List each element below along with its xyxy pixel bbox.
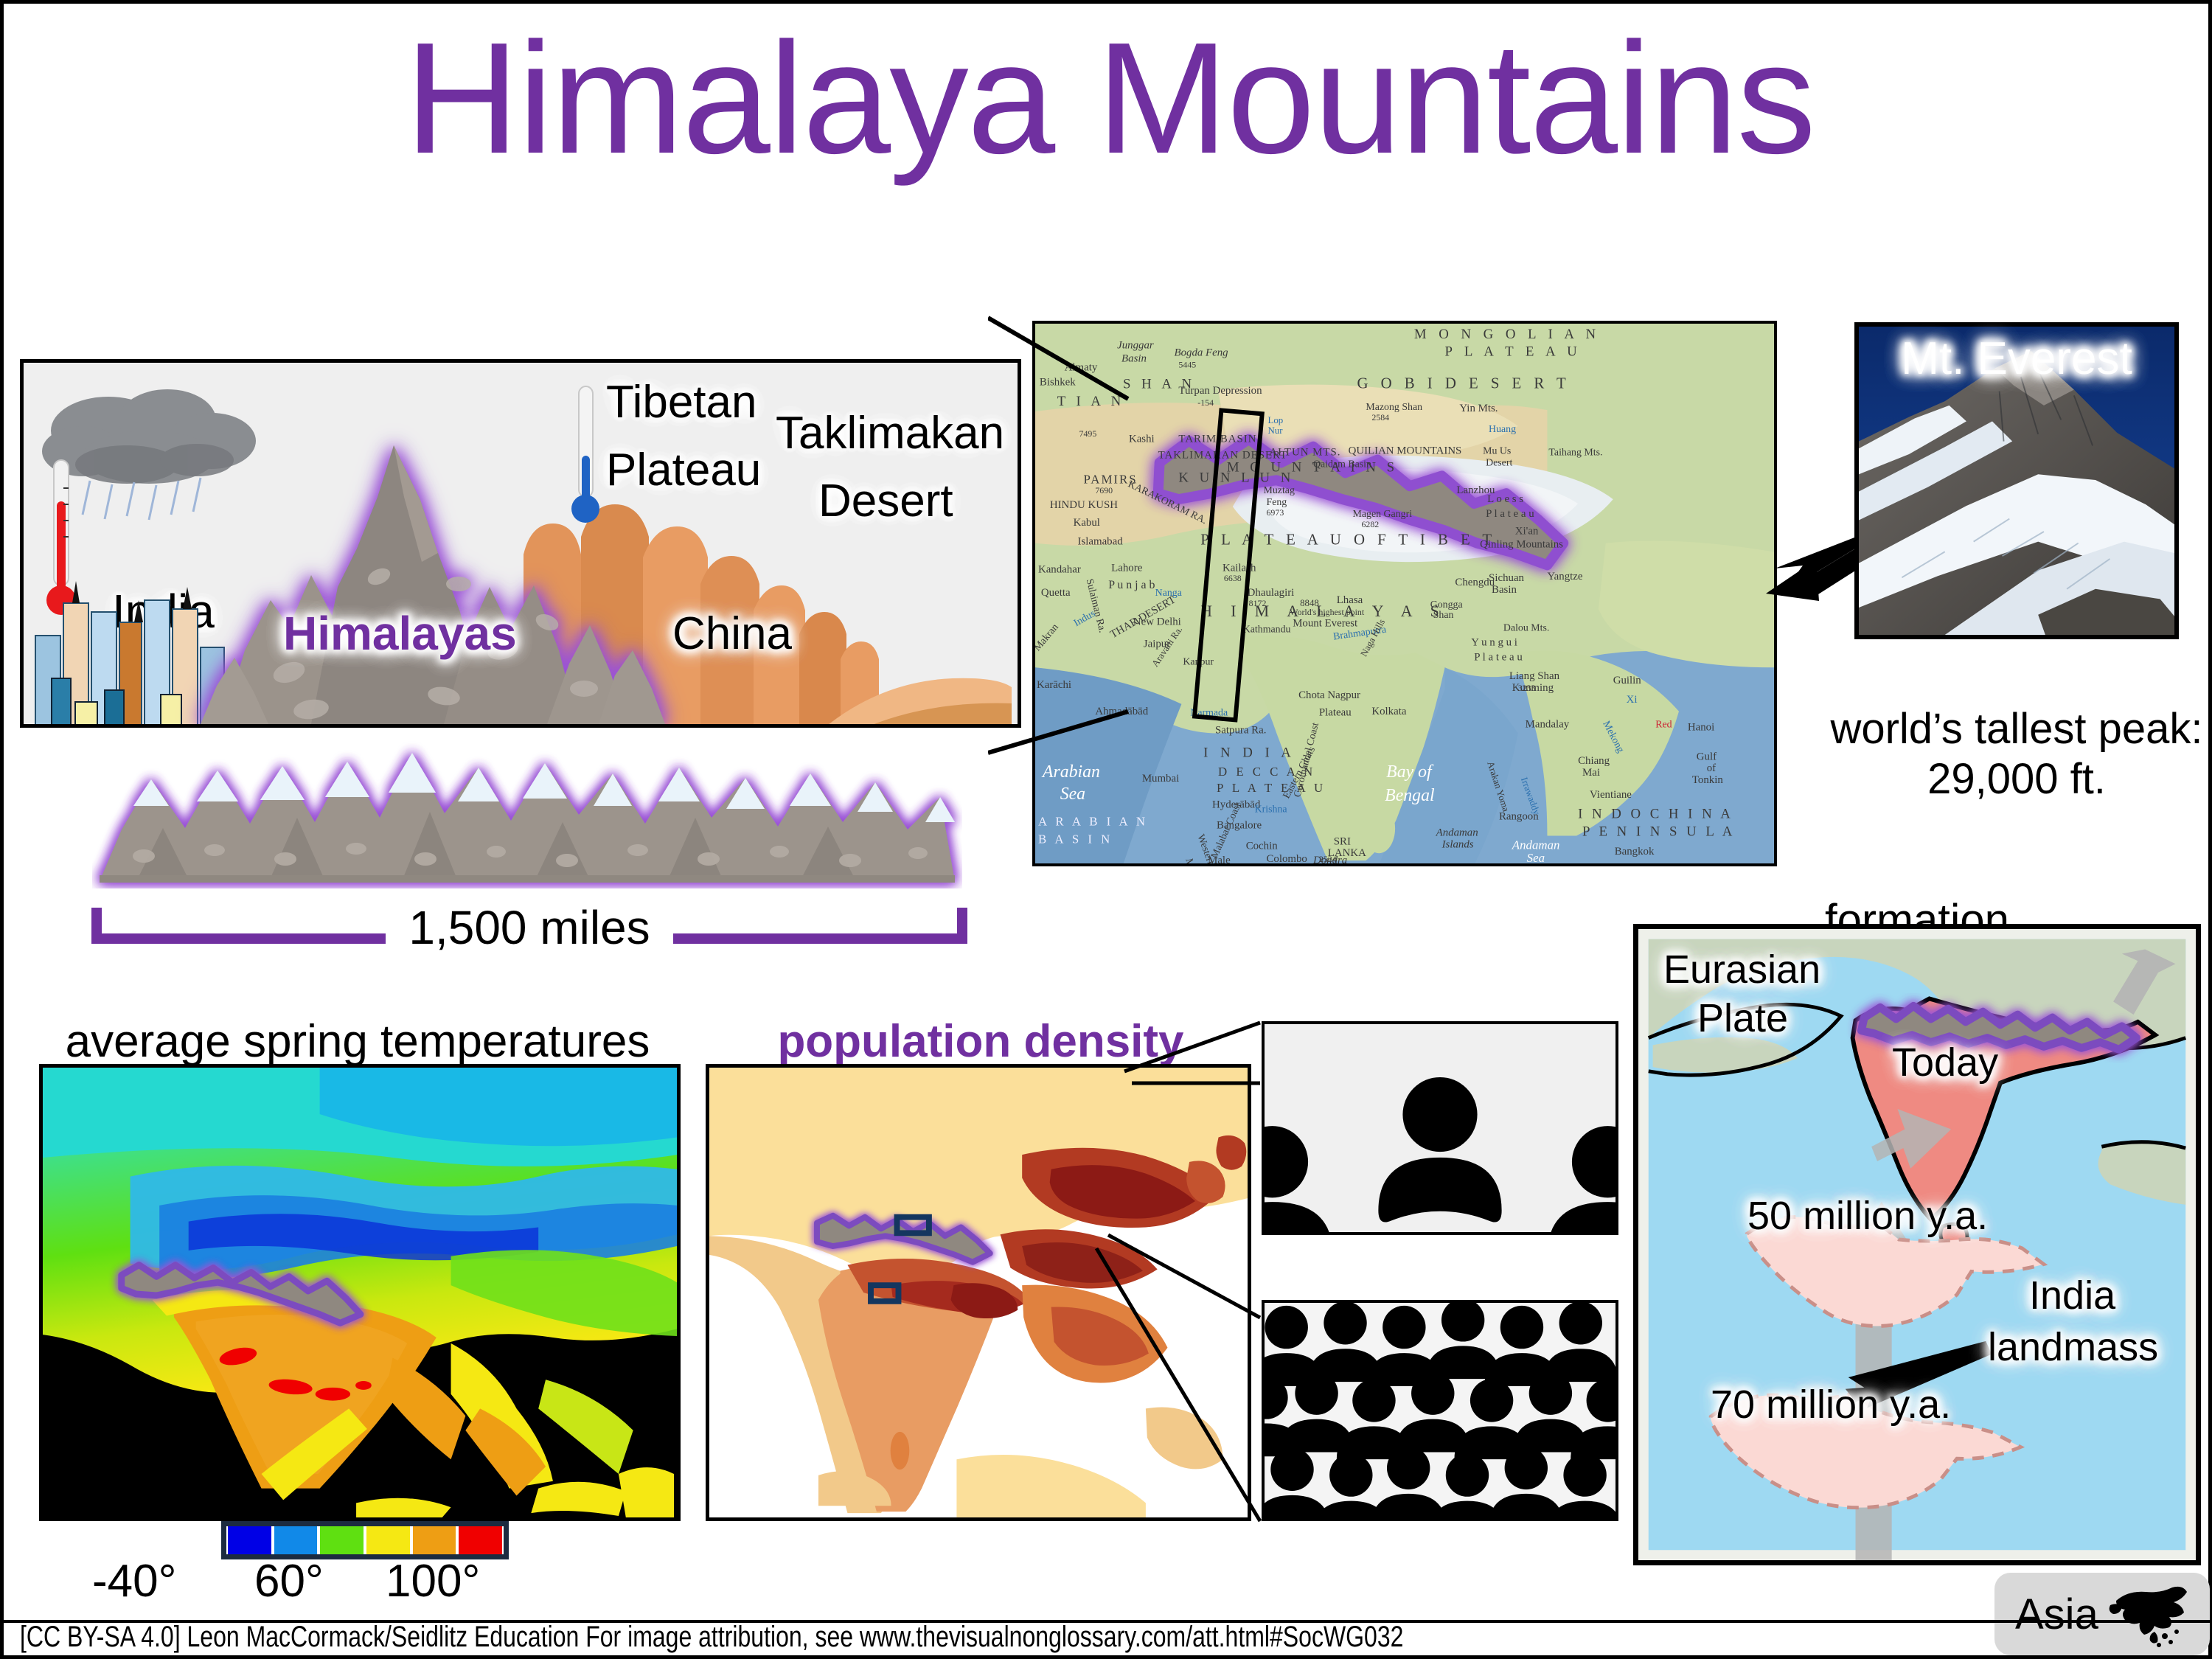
- svg-text:Plateau: Plateau: [1319, 707, 1352, 719]
- svg-text:Ahmadābād: Ahmadābād: [1095, 706, 1148, 717]
- svg-text:Guilin: Guilin: [1613, 675, 1642, 686]
- population-map-title: population density: [689, 1015, 1272, 1068]
- callout-high-density: [1262, 1300, 1618, 1521]
- svg-text:G O B I D E S E R T: G O B I D E S E R T: [1357, 374, 1571, 392]
- svg-text:-154: -154: [1197, 397, 1214, 408]
- temperature-legend-scale: [221, 1521, 509, 1559]
- thermometer-cold-icon: [571, 385, 602, 525]
- label-tibetan-plateau-line2: Plateau: [606, 444, 761, 496]
- label-eurasian-plate-line1: Eurasian: [1663, 947, 1820, 992]
- asia-continent-icon: [2106, 1580, 2188, 1648]
- label-china: China: [672, 608, 792, 660]
- label-india-landmass-line2: landmass: [1988, 1324, 2158, 1370]
- svg-text:Gulf: Gulf: [1697, 751, 1717, 762]
- svg-text:P u n j a b: P u n j a b: [1108, 579, 1155, 591]
- svg-text:Feng: Feng: [1266, 497, 1287, 508]
- region-map-graphic: Junggar Basin Bogda Feng 5445 Almaty Bis…: [1035, 324, 1774, 865]
- svg-text:Qinling Mountains: Qinling Mountains: [1480, 539, 1563, 551]
- population-map-graphic: [709, 1068, 1248, 1517]
- infographic-page: Himalaya Mountains: [0, 0, 2212, 1659]
- label-tibetan-plateau-line1: Tibetan: [606, 376, 757, 428]
- svg-text:Bogda Feng: Bogda Feng: [1174, 347, 1228, 359]
- legend-tick-mid: 60°: [254, 1555, 324, 1607]
- svg-text:Basin: Basin: [1492, 584, 1517, 596]
- temperature-map-panel[interactable]: [39, 1064, 681, 1521]
- svg-text:M O N G O L I A N: M O N G O L I A N: [1414, 327, 1600, 342]
- svg-text:P L A T E A U: P L A T E A U: [1445, 344, 1582, 360]
- legend-tick-max: 100°: [386, 1555, 480, 1607]
- svg-text:Chota Nagpur: Chota Nagpur: [1298, 689, 1360, 701]
- svg-text:Yangtze: Yangtze: [1547, 571, 1582, 582]
- svg-text:7495: 7495: [1079, 428, 1097, 439]
- svg-text:Mumbai: Mumbai: [1142, 773, 1179, 785]
- svg-text:Kunming: Kunming: [1512, 682, 1554, 694]
- everest-caption: Mt. Everest: [1854, 333, 2179, 385]
- svg-text:P L A T E A U: P L A T E A U: [1217, 781, 1326, 795]
- everest-note: world’s tallest peak: 29,000 ft.: [1773, 704, 2212, 805]
- svg-text:Bishkek: Bishkek: [1040, 376, 1076, 388]
- svg-text:Bay of: Bay of: [1386, 762, 1434, 782]
- svg-text:I N D O C H I N A: I N D O C H I N A: [1578, 807, 1733, 822]
- svg-text:Kashi: Kashi: [1129, 434, 1155, 445]
- legend-swatch-3: [366, 1526, 410, 1554]
- svg-text:Y u n g u i: Y u n g u i: [1471, 637, 1517, 649]
- svg-text:QUILIAN MOUNTAINS: QUILIAN MOUNTAINS: [1349, 445, 1462, 457]
- svg-text:Andaman: Andaman: [1512, 838, 1560, 852]
- svg-text:6638: 6638: [1224, 573, 1242, 583]
- svg-text:6282: 6282: [1361, 519, 1379, 529]
- legend-swatch-1: [274, 1526, 318, 1554]
- svg-text:Karāchi: Karāchi: [1037, 679, 1071, 691]
- svg-text:Dhaulagiri: Dhaulagiri: [1248, 587, 1295, 599]
- svg-text:Taihang Mts.: Taihang Mts.: [1548, 448, 1602, 459]
- svg-text:Mu Us: Mu Us: [1483, 446, 1511, 457]
- label-himalayas: Himalayas: [283, 606, 517, 661]
- svg-text:Quetta: Quetta: [1041, 587, 1071, 599]
- population-map-panel[interactable]: [706, 1064, 1251, 1521]
- svg-text:Islamabad: Islamabad: [1078, 536, 1124, 548]
- person-icon: [1265, 1126, 1332, 1232]
- label-50-million-ya: 50 million y.a.: [1747, 1193, 1988, 1239]
- svg-text:L o e s s: L o e s s: [1487, 493, 1523, 505]
- person-icon: [1548, 1126, 1615, 1232]
- svg-text:Kandahar: Kandahar: [1038, 563, 1081, 575]
- svg-text:A R A B I A N: A R A B I A N: [1038, 815, 1148, 829]
- legend-swatch-2: [320, 1526, 364, 1554]
- svg-text:Mount Everest: Mount Everest: [1293, 618, 1358, 630]
- svg-text:Sea: Sea: [1060, 785, 1085, 804]
- svg-text:SRI: SRI: [1334, 835, 1351, 847]
- svg-text:Dalou Mts.: Dalou Mts.: [1503, 623, 1549, 634]
- svg-text:Kolkata: Kolkata: [1371, 706, 1406, 717]
- svg-text:Satpura Ra.: Satpura Ra.: [1215, 725, 1266, 737]
- callout-low-density: [1262, 1021, 1618, 1235]
- svg-text:Xi: Xi: [1627, 694, 1638, 706]
- svg-text:ALTUN MTS.: ALTUN MTS.: [1269, 447, 1340, 459]
- svg-text:Junggar: Junggar: [1117, 340, 1154, 352]
- svg-text:HINDU KUSH: HINDU KUSH: [1050, 499, 1118, 511]
- label-eurasian-plate-line2: Plate: [1697, 995, 1788, 1041]
- svg-text:Mazong Shan: Mazong Shan: [1366, 402, 1422, 413]
- everest-note-line2: 29,000 ft.: [1773, 754, 2212, 804]
- label-taklimakan-line1: Taklimakan: [776, 407, 1004, 459]
- svg-text:Tonkin: Tonkin: [1692, 774, 1723, 786]
- svg-text:Chiang: Chiang: [1578, 755, 1610, 767]
- svg-text:Liang Shan: Liang Shan: [1509, 670, 1560, 682]
- everest-note-line1: world’s tallest peak:: [1773, 704, 2212, 754]
- svg-text:Cochin: Cochin: [1246, 840, 1279, 852]
- svg-text:Vientiane: Vientiane: [1590, 789, 1632, 801]
- svg-text:Mandalay: Mandalay: [1526, 719, 1570, 731]
- svg-text:Red: Red: [1655, 720, 1672, 731]
- temperature-map-title: average spring temperatures: [18, 1015, 697, 1068]
- svg-text:Magen Gangri: Magen Gangri: [1353, 509, 1413, 520]
- cross-section-panel: India: [20, 359, 1021, 728]
- svg-text:P l a t e a u: P l a t e a u: [1486, 508, 1534, 520]
- legend-swatch-4: [413, 1526, 456, 1554]
- svg-text:6973: 6973: [1266, 507, 1284, 518]
- label-india-landmass-line1: India: [2029, 1273, 2115, 1318]
- svg-text:Shan: Shan: [1433, 610, 1454, 621]
- label-taklimakan-line2: Desert: [818, 475, 953, 527]
- svg-text:Hanoi: Hanoi: [1688, 722, 1714, 734]
- svg-text:Mai: Mai: [1582, 767, 1600, 779]
- svg-text:Almaty: Almaty: [1065, 361, 1098, 373]
- svg-text:Male: Male: [1208, 855, 1231, 865]
- svg-text:Desert: Desert: [1486, 457, 1512, 468]
- svg-text:Basin: Basin: [1121, 353, 1147, 365]
- svg-text:Qaidam Basin: Qaidam Basin: [1313, 459, 1371, 470]
- svg-text:Muztag: Muztag: [1264, 485, 1295, 496]
- svg-text:Sichuan: Sichuan: [1489, 572, 1524, 584]
- person-icon: [1378, 1077, 1501, 1222]
- svg-text:Colombo: Colombo: [1266, 853, 1307, 865]
- svg-text:Nur: Nur: [1267, 425, 1283, 436]
- label-today: Today: [1892, 1040, 1998, 1085]
- legend-swatch-5: [459, 1526, 502, 1554]
- svg-text:Andaman: Andaman: [1436, 827, 1478, 838]
- svg-text:Dondra: Dondra: [1312, 855, 1347, 865]
- svg-text:Gongga: Gongga: [1430, 599, 1463, 611]
- region-badge[interactable]: Asia: [1994, 1573, 2210, 1655]
- svg-text:Lop: Lop: [1267, 415, 1283, 425]
- svg-text:Kathmandu: Kathmandu: [1243, 625, 1291, 636]
- svg-text:Turpan Depression: Turpan Depression: [1178, 385, 1262, 397]
- svg-text:Sea: Sea: [1527, 851, 1545, 865]
- svg-text:P L A T E A U O F T I B E: P L A T E A U O F T I B E T: [1200, 531, 1496, 549]
- svg-text:B A S I N: B A S I N: [1038, 832, 1113, 846]
- temperature-map-graphic: [43, 1068, 677, 1517]
- label-70-million-ya: 70 million y.a.: [1711, 1382, 1951, 1427]
- svg-text:Bangkok: Bangkok: [1615, 846, 1655, 858]
- formation-panel[interactable]: Eurasian Plate Today 50 million y.a. Ind…: [1633, 924, 2201, 1565]
- himalaya-range-strip: [92, 741, 962, 888]
- legend-tick-min: -40°: [92, 1555, 176, 1607]
- svg-text:Rangoon: Rangoon: [1499, 811, 1539, 823]
- svg-text:I N D I A: I N D I A: [1203, 745, 1295, 760]
- svg-text:P l a t e a u: P l a t e a u: [1474, 651, 1523, 663]
- svg-text:P E N I N S U L A: P E N I N S U L A: [1582, 824, 1735, 839]
- attribution-text: [CC BY-SA 4.0] Leon MacCormack/Seidlitz …: [20, 1621, 1403, 1654]
- range-length-label: 1,500 miles: [91, 900, 968, 955]
- page-title: Himalaya Mountains: [4, 18, 2212, 177]
- svg-text:Bengal: Bengal: [1385, 786, 1435, 805]
- svg-text:Islands: Islands: [1441, 838, 1474, 850]
- svg-text:of: of: [1707, 762, 1716, 774]
- region-badge-label: Asia: [2015, 1590, 2098, 1639]
- svg-text:Huang: Huang: [1489, 424, 1516, 435]
- svg-text:5445: 5445: [1178, 360, 1196, 370]
- legend-swatch-0: [228, 1526, 271, 1554]
- svg-text:Kabul: Kabul: [1074, 517, 1100, 529]
- svg-text:Yin Mts.: Yin Mts.: [1459, 403, 1498, 414]
- svg-text:7690: 7690: [1095, 485, 1113, 495]
- svg-text:Krishna: Krishna: [1255, 804, 1287, 815]
- svg-text:Lahore: Lahore: [1111, 562, 1143, 574]
- svg-text:2584: 2584: [1371, 412, 1389, 422]
- svg-text:Arabian: Arabian: [1041, 762, 1100, 782]
- svg-text:World's highest point: World's highest point: [1290, 607, 1365, 617]
- svg-text:Xi'an: Xi'an: [1515, 526, 1539, 538]
- region-map-panel[interactable]: Junggar Basin Bogda Feng 5445 Almaty Bis…: [1032, 321, 1777, 866]
- svg-text:Kailash: Kailash: [1222, 562, 1256, 574]
- svg-text:T I A N: T I A N: [1057, 394, 1124, 409]
